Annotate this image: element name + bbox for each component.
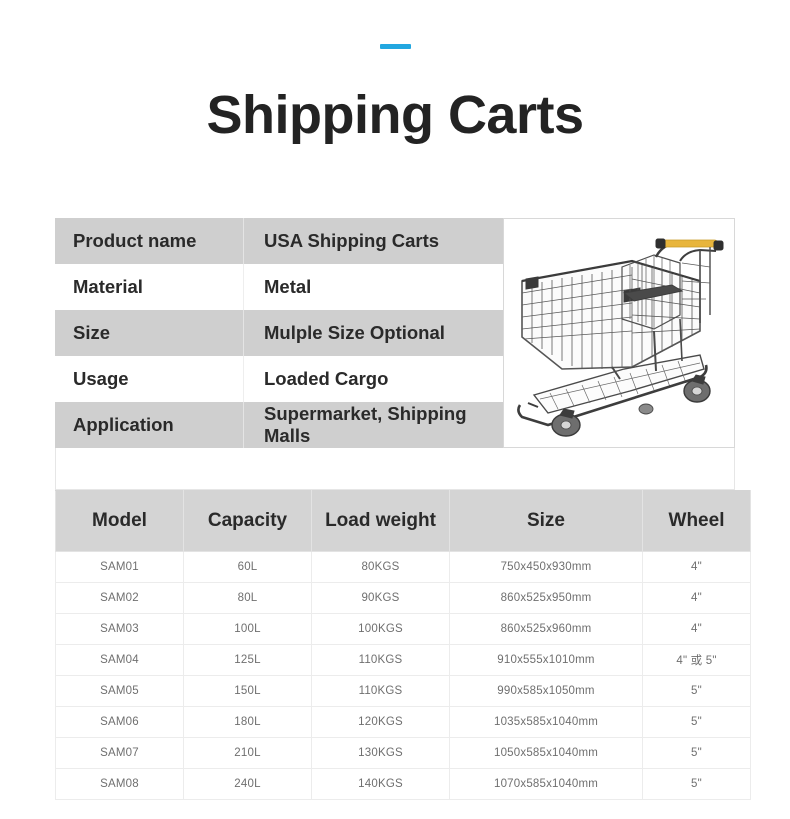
- shopping-cart-illustration: [504, 219, 734, 447]
- spec-value-usage: Loaded Cargo: [244, 356, 504, 402]
- column-header-capacity: Capacity: [184, 491, 312, 552]
- specification-block: Product name USA Shipping Carts Material…: [55, 218, 735, 448]
- spec-row-size: Size Mulple Size Optional: [55, 310, 503, 356]
- cell-load: 140KGS: [312, 769, 450, 800]
- cell-wheel: 4" 或 5": [643, 645, 751, 676]
- cell-wheel: 4": [643, 552, 751, 583]
- cart-handle-grip: [662, 240, 718, 247]
- table-row: SAM07 210L 130KGS 1050x585x1040mm 5": [56, 738, 751, 769]
- cart-wheel-front: [552, 414, 580, 436]
- table-row: SAM06 180L 120KGS 1035x585x1040mm 5": [56, 707, 751, 738]
- model-specification-table: Model Capacity Load weight Size Wheel SA…: [55, 490, 751, 800]
- accent-bar: [380, 44, 411, 49]
- specification-table-body: Product name USA Shipping Carts Material…: [55, 218, 503, 448]
- page-header: Shipping Carts: [0, 0, 790, 142]
- cell-model: SAM06: [56, 707, 184, 738]
- cell-load: 120KGS: [312, 707, 450, 738]
- cell-capacity: 100L: [184, 614, 312, 645]
- cell-model: SAM01: [56, 552, 184, 583]
- cell-size: 860x525x950mm: [450, 583, 643, 614]
- cell-model: SAM03: [56, 614, 184, 645]
- cell-capacity: 150L: [184, 676, 312, 707]
- spec-key-application: Application: [55, 402, 244, 448]
- cell-size: 750x450x930mm: [450, 552, 643, 583]
- spec-row-usage: Usage Loaded Cargo: [55, 356, 503, 402]
- cell-wheel: 5": [643, 676, 751, 707]
- column-header-wheel: Wheel: [643, 491, 751, 552]
- cell-wheel: 4": [643, 583, 751, 614]
- cell-capacity: 240L: [184, 769, 312, 800]
- spec-value-product-name: USA Shipping Carts: [244, 218, 504, 264]
- cell-wheel: 5": [643, 738, 751, 769]
- cell-wheel: 5": [643, 769, 751, 800]
- spec-key-product-name: Product name: [55, 218, 244, 264]
- spec-row-material: Material Metal: [55, 264, 503, 310]
- column-header-size: Size: [450, 491, 643, 552]
- specification-table: Product name USA Shipping Carts Material…: [55, 218, 503, 448]
- column-header-load-weight: Load weight: [312, 491, 450, 552]
- spec-value-size: Mulple Size Optional: [244, 310, 504, 356]
- cell-model: SAM08: [56, 769, 184, 800]
- cell-capacity: 180L: [184, 707, 312, 738]
- cell-load: 90KGS: [312, 583, 450, 614]
- table-row: SAM05 150L 110KGS 990x585x1050mm 5": [56, 676, 751, 707]
- cell-size: 1035x585x1040mm: [450, 707, 643, 738]
- spec-row-application: Application Supermarket, Shipping Malls: [55, 402, 503, 448]
- cell-load: 110KGS: [312, 645, 450, 676]
- cell-load: 100KGS: [312, 614, 450, 645]
- spec-value-material: Metal: [244, 264, 504, 310]
- table-row: SAM08 240L 140KGS 1070x585x1040mm 5": [56, 769, 751, 800]
- cell-size: 910x555x1010mm: [450, 645, 643, 676]
- cell-wheel: 4": [643, 614, 751, 645]
- spec-key-size: Size: [55, 310, 244, 356]
- cell-capacity: 210L: [184, 738, 312, 769]
- spec-value-application: Supermarket, Shipping Malls: [244, 402, 504, 448]
- content-area: Product name USA Shipping Carts Material…: [55, 218, 735, 800]
- cell-size: 1050x585x1040mm: [450, 738, 643, 769]
- spec-key-material: Material: [55, 264, 244, 310]
- cell-capacity: 60L: [184, 552, 312, 583]
- cell-wheel: 5": [643, 707, 751, 738]
- cell-size: 1070x585x1040mm: [450, 769, 643, 800]
- model-table-head: Model Capacity Load weight Size Wheel: [56, 491, 751, 552]
- table-spacer-row: [55, 448, 735, 490]
- cell-capacity: 80L: [184, 583, 312, 614]
- table-row: SAM04 125L 110KGS 910x555x1010mm 4" 或 5": [56, 645, 751, 676]
- column-header-model: Model: [56, 491, 184, 552]
- product-image-panel: [503, 218, 735, 448]
- page-title: Shipping Carts: [0, 88, 790, 142]
- cell-load: 110KGS: [312, 676, 450, 707]
- table-row: SAM01 60L 80KGS 750x450x930mm 4": [56, 552, 751, 583]
- cell-model: SAM05: [56, 676, 184, 707]
- cell-size: 990x585x1050mm: [450, 676, 643, 707]
- table-row: SAM03 100L 100KGS 860x525x960mm 4": [56, 614, 751, 645]
- cell-capacity: 125L: [184, 645, 312, 676]
- table-row: SAM02 80L 90KGS 860x525x950mm 4": [56, 583, 751, 614]
- model-table-header-row: Model Capacity Load weight Size Wheel: [56, 491, 751, 552]
- spec-key-usage: Usage: [55, 356, 244, 402]
- cell-model: SAM02: [56, 583, 184, 614]
- cell-model: SAM04: [56, 645, 184, 676]
- cart-wheel-rear: [684, 380, 710, 402]
- cell-model: SAM07: [56, 738, 184, 769]
- cell-load: 130KGS: [312, 738, 450, 769]
- model-table-body: SAM01 60L 80KGS 750x450x930mm 4" SAM02 8…: [56, 552, 751, 800]
- cell-load: 80KGS: [312, 552, 450, 583]
- spec-row-product-name: Product name USA Shipping Carts: [55, 218, 503, 264]
- cell-size: 860x525x960mm: [450, 614, 643, 645]
